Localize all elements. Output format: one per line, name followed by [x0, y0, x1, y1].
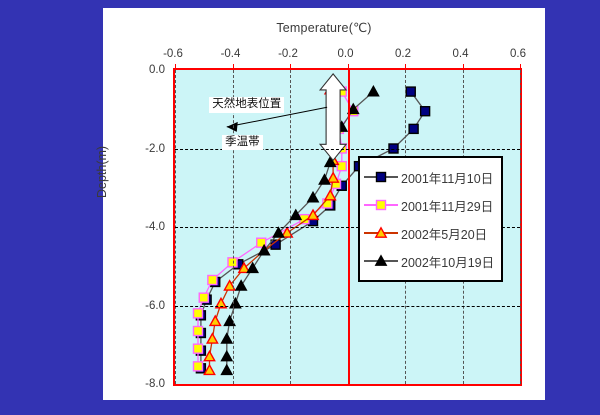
- chart-panel: Temperature(℃) Depth(m) -0.6-0.4-0.20.00…: [103, 8, 545, 400]
- data-point: [222, 365, 232, 374]
- y-axis-label: Depth(m): [95, 146, 109, 198]
- legend-label: 2001年11月29日: [401, 196, 493, 215]
- y-tick-label: -6.0: [125, 300, 165, 312]
- data-point: [194, 362, 203, 371]
- data-point: [194, 309, 203, 318]
- data-point: [368, 86, 378, 95]
- series-3: [222, 86, 379, 374]
- legend-square-marker: [374, 198, 388, 212]
- data-point: [319, 175, 329, 184]
- legend-triangle-marker: [374, 226, 388, 240]
- data-point: [337, 162, 346, 171]
- data-point: [308, 192, 318, 201]
- x-tick-label: -0.6: [163, 48, 183, 60]
- data-point: [421, 107, 430, 116]
- data-point: [328, 173, 338, 182]
- series-line: [227, 92, 374, 371]
- y-tick-label: 0.0: [125, 64, 165, 76]
- data-point: [409, 124, 418, 133]
- legend-key: [364, 197, 398, 213]
- y-tick-label: -8.0: [125, 378, 165, 390]
- x-tick-label: -0.2: [278, 48, 298, 60]
- double-headed-arrow: [320, 74, 346, 160]
- legend-label: 2002年10月19日: [401, 252, 494, 271]
- series-2: [204, 84, 338, 374]
- y-tick-label: -2.0: [125, 143, 165, 155]
- data-point: [207, 334, 217, 343]
- legend-triangle-marker: [374, 254, 388, 268]
- data-point: [222, 334, 232, 343]
- legend-item-1[interactable]: 2001年11月29日: [364, 191, 497, 219]
- screenshot-root: Temperature(℃) Depth(m) -0.6-0.4-0.20.00…: [0, 0, 600, 415]
- x-tick-label: 0.6: [510, 48, 526, 60]
- data-point: [199, 293, 208, 302]
- x-tick-label: 0.4: [453, 48, 469, 60]
- legend-key: [364, 225, 398, 241]
- annotation-seasonal-zone: 季温帯: [222, 135, 263, 150]
- x-tick-label: -0.4: [221, 48, 241, 60]
- y-tick-label: -4.0: [125, 221, 165, 233]
- data-point: [406, 87, 415, 96]
- chart-title: Temperature(℃): [103, 20, 545, 35]
- y-gridline: [175, 306, 520, 307]
- x-tick-label: 0.2: [395, 48, 411, 60]
- annotation-ground-surface: 天然地表位置: [209, 97, 284, 112]
- chart-legend: 2001年11月10日2001年11月29日2002年5月20日2002年10月…: [358, 156, 503, 282]
- x-gridline: [520, 70, 521, 384]
- legend-item-3[interactable]: 2002年10月19日: [364, 247, 497, 275]
- data-point: [222, 351, 232, 360]
- x-tick-label: 0.0: [338, 48, 354, 60]
- legend-key: [364, 253, 398, 269]
- data-point: [194, 327, 203, 336]
- legend-label: 2001年11月10日: [401, 168, 493, 187]
- data-point: [236, 281, 246, 290]
- legend-square-marker: [374, 170, 388, 184]
- data-point: [208, 275, 217, 284]
- legend-key: [364, 169, 398, 185]
- data-point: [194, 344, 203, 353]
- data-point: [325, 190, 335, 199]
- legend-label: 2002年5月20日: [401, 224, 487, 243]
- legend-item-0[interactable]: 2001年11月10日: [364, 163, 497, 191]
- legend-item-2[interactable]: 2002年5月20日: [364, 219, 497, 247]
- data-point: [210, 316, 220, 325]
